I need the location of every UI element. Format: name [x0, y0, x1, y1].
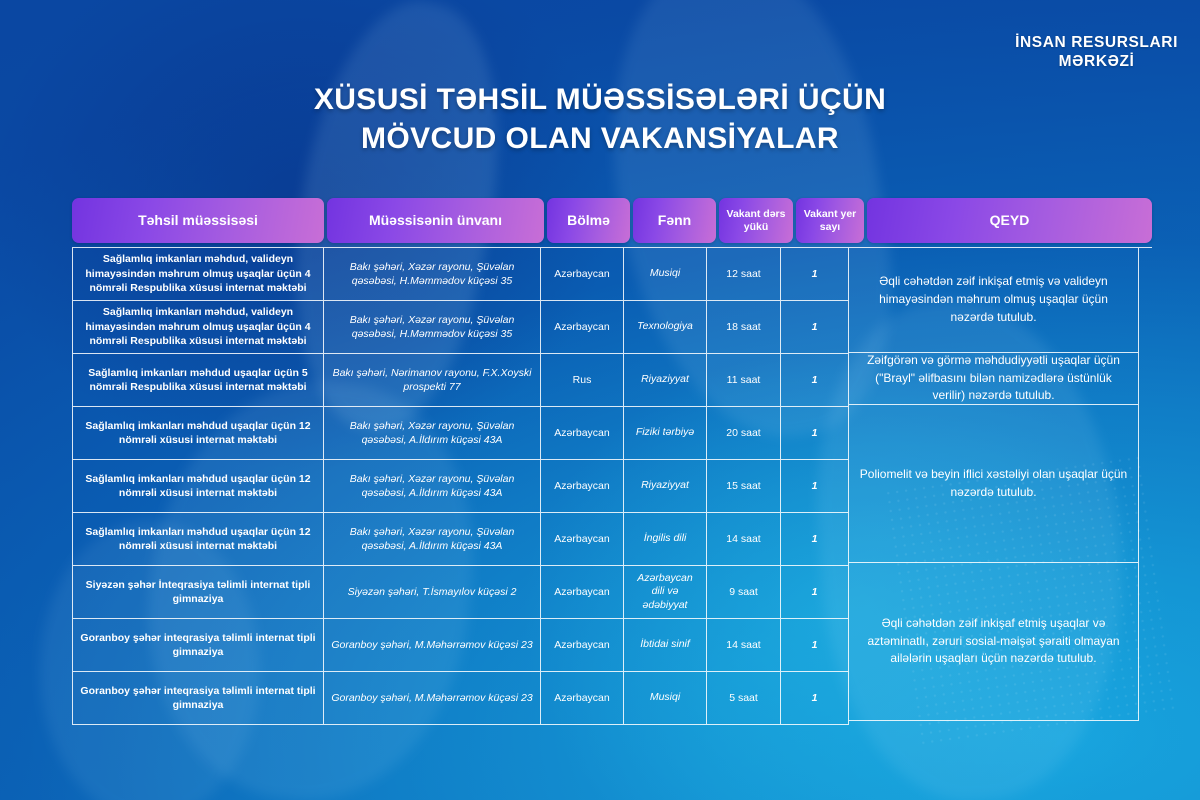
cell-lesson-load: 5 saat: [707, 672, 781, 724]
page-title: XÜSUSİ TƏHSİL MÜƏSSİSƏLƏRİ ÜÇÜN MÖVCUD O…: [0, 80, 1200, 158]
cell-address: Siyəzən şəhəri, T.İsmayılov küçəsi 2: [324, 566, 541, 618]
table-rows: Sağlamlıq imkanları məhdud, valideyn him…: [72, 248, 849, 725]
cell-vacancy-count: 1: [781, 672, 849, 724]
cell-lesson-load: 14 saat: [707, 513, 781, 565]
cell-section: Azərbaycan: [541, 407, 624, 459]
table-header-cell-section[interactable]: Bölmə: [547, 198, 630, 243]
cell-vacancy-count: 1: [781, 407, 849, 459]
cell-note: Əqli cəhətdən zəif inkişaf etmiş uşaqlar…: [849, 563, 1139, 721]
table-header-cell-institution[interactable]: Təhsil müəssisəsi: [72, 198, 324, 243]
cell-lesson-load: 12 saat: [707, 248, 781, 300]
cell-vacancy-count: 1: [781, 460, 849, 512]
cell-lesson-load: 14 saat: [707, 619, 781, 671]
table-row[interactable]: Goranboy şəhər inteqrasiya təlimli inter…: [72, 619, 849, 672]
table-header-cell-lesson-load[interactable]: Vakant dərs yükü: [719, 198, 793, 243]
brand-logo: İNSAN RESURSLARI MƏRKƏZİ: [1015, 34, 1178, 72]
cell-institution: Sağlamlıq imkanları məhdud uşaqlar üçün …: [72, 407, 324, 459]
cell-subject: Musiqi: [624, 248, 707, 300]
cell-institution: Siyəzən şəhər İnteqrasiya təlimli intern…: [72, 566, 324, 618]
cell-subject: Riyaziyyat: [624, 460, 707, 512]
page-title-line-1: XÜSUSİ TƏHSİL MÜƏSSİSƏLƏRİ ÜÇÜN: [0, 80, 1200, 119]
cell-lesson-load: 20 saat: [707, 407, 781, 459]
cell-section: Azərbaycan: [541, 460, 624, 512]
page-title-line-2: MÖVCUD OLAN VAKANSİYALAR: [0, 119, 1200, 158]
table-row[interactable]: Sağlamlıq imkanları məhdud, valideyn him…: [72, 301, 849, 354]
cell-subject: Azərbaycan dili və ədəbiyyat: [624, 566, 707, 618]
cell-note: Zəifgörən və görmə məhdudiyyətli uşaqlar…: [849, 353, 1139, 405]
vacancies-table: Təhsil müəssisəsiMüəssisənin ünvanıBölmə…: [72, 198, 1152, 725]
cell-section: Azərbaycan: [541, 619, 624, 671]
table-row[interactable]: Sağlamlıq imkanları məhdud uşaqlar üçün …: [72, 354, 849, 407]
cell-address: Bakı şəhəri, Nərimanov rayonu, F.X.Xoysk…: [324, 354, 541, 406]
table-row[interactable]: Sağlamlıq imkanları məhdud uşaqlar üçün …: [72, 407, 849, 460]
cell-institution: Sağlamlıq imkanları məhdud uşaqlar üçün …: [72, 354, 324, 406]
table-header-cell-subject[interactable]: Fənn: [633, 198, 716, 243]
cell-vacancy-count: 1: [781, 248, 849, 300]
cell-section: Rus: [541, 354, 624, 406]
cell-vacancy-count: 1: [781, 301, 849, 353]
cell-subject: İbtidai sinif: [624, 619, 707, 671]
cell-subject: İngilis dili: [624, 513, 707, 565]
table-header-cell-note[interactable]: QEYD: [867, 198, 1152, 243]
cell-vacancy-count: 1: [781, 619, 849, 671]
table-row[interactable]: Sağlamlıq imkanları məhdud uşaqlar üçün …: [72, 460, 849, 513]
table-header-cell-vacancy-count[interactable]: Vakant yer sayı: [796, 198, 864, 243]
cell-subject: Riyaziyyat: [624, 354, 707, 406]
cell-address: Bakı şəhəri, Xəzər rayonu, Şüvəlan qəsəb…: [324, 301, 541, 353]
cell-lesson-load: 11 saat: [707, 354, 781, 406]
cell-institution: Sağlamlıq imkanları məhdud, valideyn him…: [72, 248, 324, 300]
table-row[interactable]: Sağlamlıq imkanları məhdud, valideyn him…: [72, 248, 849, 301]
cell-section: Azərbaycan: [541, 566, 624, 618]
cell-institution: Sağlamlıq imkanları məhdud uşaqlar üçün …: [72, 460, 324, 512]
cell-subject: Fiziki tərbiyə: [624, 407, 707, 459]
table-header-row: Təhsil müəssisəsiMüəssisənin ünvanıBölmə…: [72, 198, 1152, 243]
cell-lesson-load: 15 saat: [707, 460, 781, 512]
cell-section: Azərbaycan: [541, 672, 624, 724]
table-row[interactable]: Goranboy şəhər inteqrasiya təlimli inter…: [72, 672, 849, 725]
cell-subject: Musiqi: [624, 672, 707, 724]
table-row[interactable]: Siyəzən şəhər İnteqrasiya təlimli intern…: [72, 566, 849, 619]
cell-subject: Texnologiya: [624, 301, 707, 353]
cell-address: Bakı şəhəri, Xəzər rayonu, Şüvəlan qəsəb…: [324, 513, 541, 565]
cell-note: Poliomelit və beyin iflici xəstəliyi ola…: [849, 405, 1139, 563]
cell-institution: Sağlamlıq imkanları məhdud, valideyn him…: [72, 301, 324, 353]
table-body: Sağlamlıq imkanları məhdud, valideyn him…: [72, 247, 1152, 725]
cell-section: Azərbaycan: [541, 248, 624, 300]
brand-line-1: İNSAN RESURSLARI: [1015, 34, 1178, 53]
cell-vacancy-count: 1: [781, 513, 849, 565]
cell-note: Əqli cəhətdən zəif inkişaf etmiş və vali…: [849, 248, 1139, 353]
cell-address: Goranboy şəhəri, M.Məhərrəmov küçəsi 23: [324, 619, 541, 671]
brand-line-2: MƏRKƏZİ: [1015, 53, 1178, 72]
cell-vacancy-count: 1: [781, 566, 849, 618]
cell-lesson-load: 9 saat: [707, 566, 781, 618]
table-row[interactable]: Sağlamlıq imkanları məhdud uşaqlar üçün …: [72, 513, 849, 566]
table-header-cell-address[interactable]: Müəssisənin ünvanı: [327, 198, 544, 243]
cell-section: Azərbaycan: [541, 513, 624, 565]
cell-address: Bakı şəhəri, Xəzər rayonu, Şüvəlan qəsəb…: [324, 248, 541, 300]
cell-address: Bakı şəhəri, Xəzər rayonu, Şüvəlan qəsəb…: [324, 460, 541, 512]
cell-institution: Goranboy şəhər inteqrasiya təlimli inter…: [72, 672, 324, 724]
cell-address: Bakı şəhəri, Xəzər rayonu, Şüvəlan qəsəb…: [324, 407, 541, 459]
cell-lesson-load: 18 saat: [707, 301, 781, 353]
cell-institution: Goranboy şəhər inteqrasiya təlimli inter…: [72, 619, 324, 671]
cell-section: Azərbaycan: [541, 301, 624, 353]
cell-institution: Sağlamlıq imkanları məhdud uşaqlar üçün …: [72, 513, 324, 565]
table-notes-column: Əqli cəhətdən zəif inkişaf etmiş və vali…: [849, 248, 1139, 725]
cell-address: Goranboy şəhəri, M.Məhərrəmov küçəsi 23: [324, 672, 541, 724]
cell-vacancy-count: 1: [781, 354, 849, 406]
